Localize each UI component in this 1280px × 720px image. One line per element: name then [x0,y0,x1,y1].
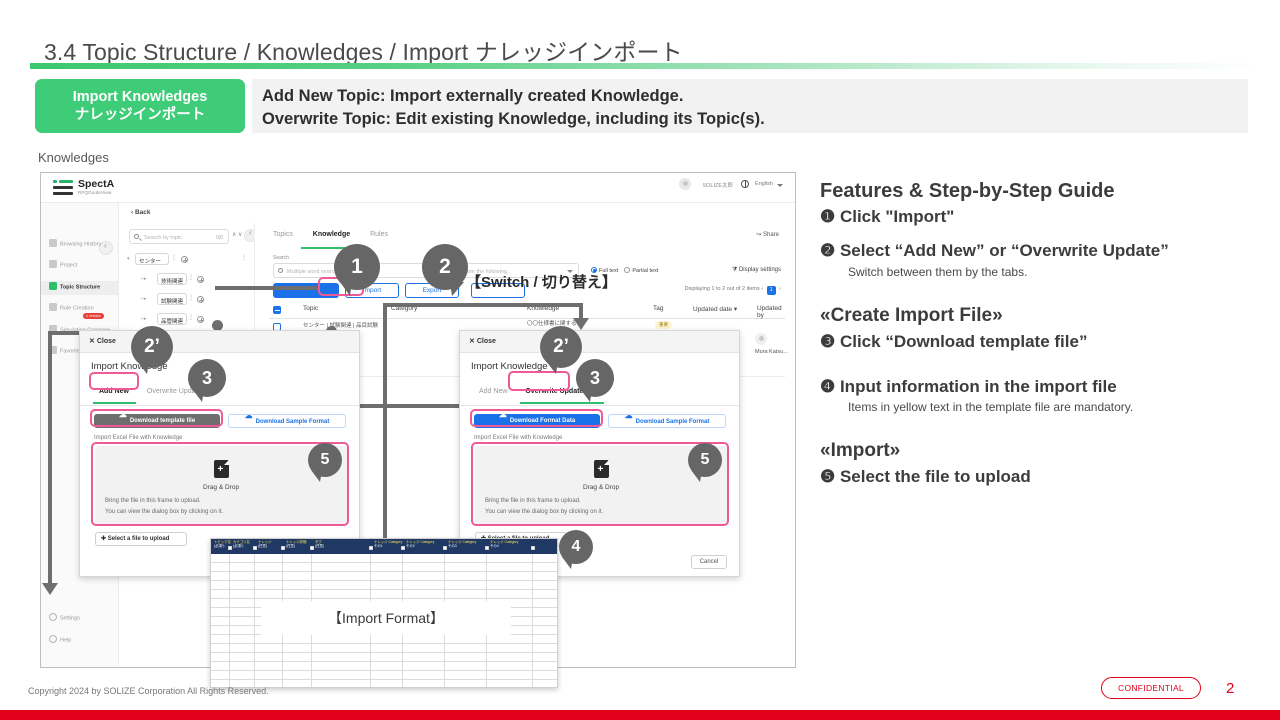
dialog-active-tab-underline [520,402,604,404]
close-icon[interactable]: ✕ Close [469,337,496,345]
spreadsheet-header-filter[interactable] [369,546,373,550]
summary-bar: Add New Topic: Import externally created… [252,79,1248,133]
column-header-topic[interactable]: Topic [303,305,318,312]
status-badge: 重要 [655,321,672,329]
slide-root: 3.4 Topic Structure / Knowledges / Impor… [0,0,1280,720]
download-sample-format-button[interactable]: Download Sample Format [228,414,346,428]
tree-node-menu-icon[interactable]: ⋮ [188,274,194,281]
table-header-row: Topic Category Knowledge Tag Updated dat… [269,305,785,319]
sidebar-item-label: Project [60,263,77,269]
callout-2-prime-left: 2’ [131,326,173,368]
callout-2-prime-right: 2’ [540,326,582,368]
column-header-updated-by[interactable]: Updated by [757,305,785,319]
structure-icon [49,282,57,290]
tree-panel-menu-icon[interactable]: ⋮ [241,254,247,261]
dialog-tabs: Add New Overwrite Update [471,385,591,398]
callout-tail [581,390,592,402]
guide-section-import: «Import» [820,438,1270,465]
cloud-download-icon [499,417,507,422]
spreadsheet-header-cell: タグ(任意) [315,540,324,549]
tab-add-new[interactable]: Add New [471,385,515,398]
sidebar-item-label: Browsing History [60,242,101,248]
callout-4: 4 [559,530,593,564]
dialog-header: ✕ Close [460,331,739,353]
guide-section-create: «Create Import File» [820,303,1270,330]
sidebar-item-settings[interactable]: Settings [49,613,80,622]
tree-expander-icon[interactable]: ▾ [127,256,130,262]
pagination-status: Displaying 1 to 2 out of 2 items [685,286,760,292]
tree-node-menu-icon[interactable]: ⋮ [188,294,194,301]
spreadsheet-header-filter[interactable] [531,546,535,550]
badge-label-en: Import Knowledges [73,88,208,106]
badge-label-ja: ナレッジインポート [75,106,206,124]
tree-node-add-icon[interactable] [181,256,188,263]
switch-annotation: 【Switch / 切り替え】 [466,271,617,292]
spreadsheet-header-cell: カテゴリ名(必須*) [233,540,250,549]
tree-node-menu-icon[interactable]: ⋮ [188,314,194,321]
tree-node-child-2[interactable]: 試験関連 [157,293,187,305]
app-logo-name: SpectA [78,178,114,190]
page-prev-button[interactable]: ‹ [761,286,764,292]
summary-line-1: Add New Topic: Import externally created… [262,85,1248,108]
copyright-text: Copyright 2024 by SOLIZE Corporation All… [28,686,269,696]
sidebar-item-rule-creation[interactable]: Rule Creation [49,303,94,312]
divider [80,405,359,406]
spreadsheet-header-filter[interactable] [281,546,285,550]
callout-5-left: 5 [308,443,342,477]
dialog-header: ✕ Close [80,331,359,353]
drop-title: Drag & Drop [95,484,347,491]
spreadsheet-header-cell: ナレッジ Categoryその4 [490,540,518,549]
column-header-updated-date[interactable]: Updated date ▾ [693,305,737,313]
guide-column: Features & Step-by-Step Guide ❶ Click "I… [820,178,1270,488]
tree-branch-icon: ⌐▸ [141,316,146,322]
footer-accent-bar [0,710,1280,720]
tab-topics[interactable]: Topics [273,231,293,238]
spreadsheet-header-cell: ナレッジ詳細(任意) [286,540,306,549]
page-next-button[interactable]: › [779,286,781,292]
dialog-active-tab-underline [93,402,136,404]
spectra-logo-icon [53,180,73,196]
rule-icon [49,303,57,311]
globe-icon [741,180,749,188]
radio-icon [624,267,630,273]
select-file-button[interactable]: ✚ Select a file to upload [95,532,187,546]
dialog-title: Import Knowledge [471,361,548,372]
tree-search-count: 0/0 [216,235,223,241]
page-current[interactable]: 1 [767,286,776,295]
spreadsheet-header-filter[interactable] [228,546,232,550]
tab-rules[interactable]: Rules [370,231,388,238]
tree-node-child-1[interactable]: 技術関連 [157,273,187,285]
tree-node-root[interactable]: センター [135,253,169,265]
connector-line [383,303,387,543]
spreadsheet-header-filter[interactable] [253,546,257,550]
tree-node-add-icon[interactable] [197,276,204,283]
callout-tail [340,282,352,296]
file-upload-icon [594,460,609,478]
section-label: Knowledges [38,150,109,165]
search-icon [278,268,283,273]
drop-hint-2: You can view the dialog box by clicking … [485,509,603,515]
download-sample-format-button[interactable]: Download Sample Format [608,414,726,428]
connector-line [383,303,583,307]
callout-tail [562,557,573,569]
sidebar-item-label: Topic Structure [60,285,100,291]
tab-add-new[interactable]: Add New [91,385,137,398]
column-header-tag[interactable]: Tag [653,305,663,312]
import-knowledges-badge: Import Knowledges ナレッジインポート [35,79,245,133]
tree-node-add-icon[interactable] [197,296,204,303]
display-settings-button[interactable]: Display settings [732,267,781,274]
spreadsheet-header-cell: ナレッジ Categoryその3 [448,540,476,549]
tab-knowledge[interactable]: Knowledge [313,231,350,238]
drop-title: Drag & Drop [475,484,727,491]
sidebar-item-label: Rule Creation [60,306,94,312]
sidebar-item-project[interactable]: Project [49,260,77,269]
sidebar-item-browsing-history[interactable]: Browsing History [49,239,101,248]
dialog-subtitle: Import Excel File with Knowledge [474,435,562,441]
share-button[interactable]: Share [756,231,779,238]
spreadsheet-header-cell: ナレッジ Categoryその2 [406,540,434,549]
app-header: SpectA RFQGuideView SOLIZE太郎 English [41,173,795,203]
connector-arrowhead [573,318,589,330]
sidebar-item-help[interactable]: Help [49,635,71,644]
spreadsheet-header-filter[interactable] [310,546,314,550]
page-number: 2 [1226,680,1234,697]
summary-line-2: Overwrite Topic: Edit existing Knowledge… [262,108,1248,131]
drop-hint-2: You can view the dialog box by clicking … [105,509,223,515]
sidebar-item-topic-structure[interactable]: Topic Structure [49,282,100,291]
spreadsheet-header-filter[interactable] [485,546,489,550]
callout-3-left: 3 [188,359,226,397]
guide-step-4: ❹ Input information in the import file [820,375,1270,398]
sidebar-item-label: Help [60,638,71,644]
avatar [679,178,691,190]
radio-partial-text[interactable]: Partial text [624,268,658,274]
account-name[interactable]: SOLIZE太郎 [702,181,733,189]
search-label: Search [273,255,289,261]
history-icon [49,239,57,247]
radio-label: Partial text [632,268,658,274]
guide-step-5: ❺ Select the file to upload [820,465,1270,488]
cancel-button[interactable]: Cancel [691,555,727,569]
cloud-download-icon [625,418,633,423]
close-icon[interactable]: ✕ Close [89,337,116,345]
download-template-file-button[interactable]: Download template file [94,414,220,428]
gear-icon [49,613,57,621]
status-badge: 1 version [83,313,104,319]
dialog-subtitle: Import Excel File with Knowledge [94,435,182,441]
callout-tail [311,470,322,482]
panel-tabs: Topics Knowledge Rules [273,231,406,238]
callout-tail [546,361,558,374]
briefcase-icon [49,260,57,268]
guide-heading: Features & Step-by-Step Guide [820,178,1270,205]
confidential-stamp: CONFIDENTIAL [1101,677,1201,699]
guide-step-2: ❷ Select “Add New” or “Overwrite Update” [820,239,1270,262]
callout-tail [137,361,149,374]
app-logo-sub: RFQGuideView [78,190,112,195]
sidebar-item-favorites[interactable]: Favorites [49,346,83,355]
sidebar-item-label: Settings [60,616,80,622]
tree-search-placeholder: Search by topic [144,235,182,241]
guide-step-1: ❶ Click "Import" [820,205,1270,228]
divider [460,405,739,406]
drop-hint-1: Bring the file in this frame to upload. [485,498,581,504]
pagination: Displaying 1 to 2 out of 2 items ‹ 1 › [685,286,782,295]
spreadsheet-header-cell: ナレッジ Categoryその1 [374,540,402,549]
tree-search-nav-arrows[interactable]: ∧ ∨ [232,231,242,238]
guide-step-2-note: Switch between them by the tabs. [848,263,1270,281]
title-gradient-rule [30,63,1262,69]
import-format-spreadsheet: トピック名(必須*) カテゴリ名(必須*) ナレッジ(任意) ナレッジ詳細(任意… [210,538,558,688]
callout-2: 2 [422,244,468,290]
spreadsheet-header-filter[interactable] [401,546,405,550]
drop-hint-1: Bring the file in this frame to upload. [105,498,201,504]
callout-5-right: 5 [688,443,722,477]
back-button[interactable]: Back [131,209,151,216]
tree-search-input[interactable]: Search by topic 0/0 [129,229,229,244]
cloud-download-icon [119,417,127,422]
callout-1: 1 [334,244,380,290]
page-title: 3.4 Topic Structure / Knowledges / Impor… [44,33,683,67]
cell-updated-by: Mura Katsu… [755,347,789,357]
select-all-checkbox[interactable] [273,306,281,314]
callout-tail [450,282,464,296]
avatar [755,333,767,345]
guide-step-3: ❸ Click “Download template file” [820,330,1270,353]
tree-branch-icon: ⌐▸ [141,276,146,282]
callout-tail [193,390,204,402]
cloud-download-icon [245,418,253,423]
chevron-down-icon[interactable] [777,184,783,187]
help-icon [49,635,57,643]
active-tab-underline [301,247,345,249]
guide-step-4-note: Items in yellow text in the template fil… [848,398,1270,416]
tree-node-add-icon[interactable] [197,316,204,323]
callout-tail [691,470,702,482]
connector-arrowhead [42,583,58,595]
tree-node-child-3[interactable]: 品管関連 [157,313,187,325]
language-selector[interactable]: English [755,181,773,187]
connector-line [48,331,52,591]
file-upload-icon [214,460,229,478]
search-icon [134,234,139,239]
tree-node-menu-icon[interactable]: ⋮ [171,254,177,261]
callout-3-right: 3 [576,359,614,397]
download-format-data-button[interactable]: Download Format Data [474,414,600,428]
connector-line [215,286,318,290]
spreadsheet-header-filter[interactable] [443,546,447,550]
tree-branch-icon: ⌐▸ [141,296,146,302]
import-format-label: 【Import Format】 [261,601,511,635]
spreadsheet-header-row: トピック名(必須*) カテゴリ名(必須*) ナレッジ(任意) ナレッジ詳細(任意… [211,539,557,554]
spreadsheet-header-cell: ナレッジ(任意) [258,540,272,549]
